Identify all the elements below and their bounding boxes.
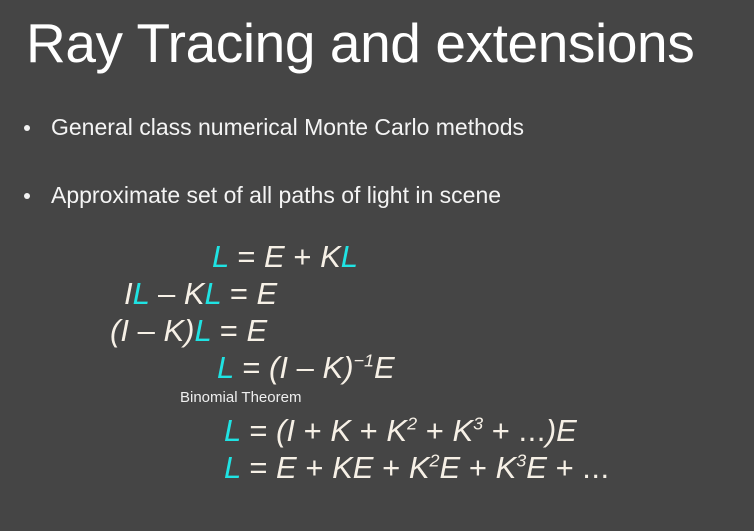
eq6-K2: K	[409, 450, 430, 485]
bullet-dot-icon	[24, 125, 30, 131]
eq2-minus: –	[158, 276, 175, 311]
eq5-L: L	[224, 413, 241, 448]
eq6-L: L	[224, 450, 241, 485]
equation-block: L = E + KL IL – KL = E (I – K)L = E L = …	[0, 238, 754, 486]
equation-line-1: L = E + KL	[0, 238, 754, 275]
eq1-plus: +	[293, 239, 311, 274]
eq5-plus-3: +	[426, 413, 444, 448]
eq4-rparen: )	[343, 350, 353, 385]
list-item: Approximate set of all paths of light in…	[0, 180, 754, 218]
list-item-label: Approximate set of all paths of light in…	[51, 180, 501, 210]
eq2-L2: L	[205, 276, 222, 311]
eq6-K1: K	[332, 450, 353, 485]
eq1-K: K	[320, 239, 341, 274]
eq1-E: E	[264, 239, 285, 274]
eq3-E: E	[247, 313, 268, 348]
eq3-lparen: (	[110, 313, 120, 348]
eq4-I: I	[279, 350, 288, 385]
eq1-equals: =	[237, 239, 255, 274]
eq3-I: I	[120, 313, 129, 348]
eq5-ellipsis: ...	[519, 413, 546, 448]
eq6-E3: E	[440, 450, 461, 485]
page-title: Ray Tracing and extensions	[26, 8, 694, 78]
equation-line-5: L = (I + K + K2 + K3 + ...)E	[0, 412, 754, 449]
eq6-plus-3: +	[469, 450, 487, 485]
eq6-E2: E	[353, 450, 374, 485]
eq5-K1: K	[330, 413, 351, 448]
eq5-exponent-3: 3	[473, 414, 483, 434]
eq5-plus-4: +	[492, 413, 510, 448]
eq4-equals: =	[242, 350, 260, 385]
list-item: General class numerical Monte Carlo meth…	[0, 112, 754, 150]
eq4-minus: –	[297, 350, 314, 385]
eq5-exponent-2: 2	[407, 414, 417, 434]
eq6-equals: =	[249, 450, 267, 485]
eq6-exponent-3: 3	[516, 451, 526, 471]
eq2-equals: =	[230, 276, 248, 311]
eq3-K: K	[163, 313, 184, 348]
eq2-I: I	[124, 276, 133, 311]
eq5-lparen: (	[276, 413, 286, 448]
slide-canvas: Ray Tracing and extensions General class…	[0, 0, 754, 531]
eq6-plus-1: +	[305, 450, 323, 485]
eq1-rhs-L: L	[341, 239, 358, 274]
eq2-K: K	[184, 276, 205, 311]
eq5-I: I	[286, 413, 295, 448]
equation-line-4: L = (I – K)−1E	[0, 349, 754, 386]
eq6-E1: E	[276, 450, 297, 485]
binomial-theorem-label: Binomial Theorem	[0, 386, 754, 412]
eq3-equals: =	[220, 313, 238, 348]
eq3-L: L	[194, 313, 211, 348]
eq2-L1: L	[133, 276, 150, 311]
eq5-K3: K	[452, 413, 473, 448]
eq3-minus: –	[138, 313, 155, 348]
eq4-L: L	[217, 350, 234, 385]
eq5-equals: =	[249, 413, 267, 448]
eq3-rparen: )	[184, 313, 194, 348]
eq5-K2: K	[386, 413, 407, 448]
eq1-lhs-L: L	[212, 239, 229, 274]
eq6-ellipsis: ...	[582, 450, 609, 485]
equation-line-6: L = E + KE + K2E + K3E + ...	[0, 449, 754, 486]
equation-line-2: IL – KL = E	[0, 275, 754, 312]
eq4-E: E	[374, 350, 395, 385]
list-item-label: General class numerical Monte Carlo meth…	[51, 112, 524, 142]
bullet-dot-icon	[24, 193, 30, 199]
eq6-plus-4: +	[556, 450, 574, 485]
eq5-plus-2: +	[360, 413, 378, 448]
eq4-exponent: −1	[354, 351, 375, 371]
bullet-list: General class numerical Monte Carlo meth…	[0, 112, 754, 248]
eq5-rparen: )	[546, 413, 556, 448]
eq5-E: E	[556, 413, 577, 448]
equation-line-3: (I – K)L = E	[0, 312, 754, 349]
eq6-K3: K	[496, 450, 517, 485]
eq2-E: E	[257, 276, 278, 311]
eq6-exponent-2: 2	[430, 451, 440, 471]
eq5-plus-1: +	[304, 413, 322, 448]
eq6-plus-2: +	[382, 450, 400, 485]
eq4-lparen: (	[269, 350, 279, 385]
eq6-E4: E	[526, 450, 547, 485]
eq4-K: K	[323, 350, 344, 385]
